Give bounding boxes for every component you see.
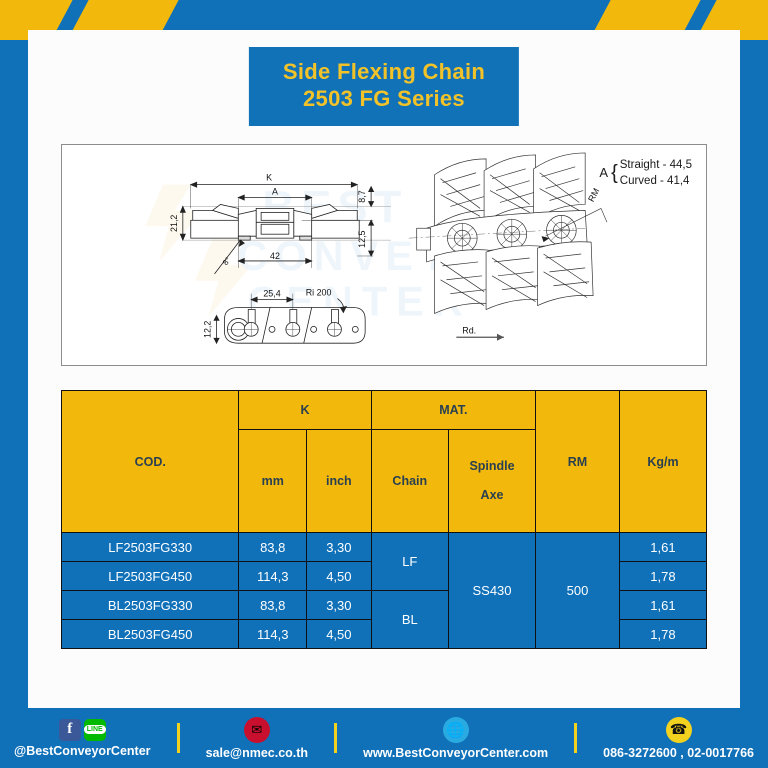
svg-text:21,2: 21,2: [169, 215, 179, 232]
footer-email[interactable]: ✉ sale@nmec.co.th: [206, 717, 309, 760]
footer-divider-2: [334, 723, 337, 753]
cell-rm: 500: [536, 533, 620, 649]
cell-mm: 83,8: [239, 591, 307, 620]
svg-text:12,2: 12,2: [203, 321, 213, 338]
header-rm: RM: [536, 391, 620, 533]
header-inch: inch: [307, 430, 372, 533]
cell-kgm: 1,78: [619, 562, 706, 591]
svg-text:Ri 200: Ri 200: [306, 288, 332, 298]
cell-kgm: 1,61: [619, 591, 706, 620]
footer-website[interactable]: 🌐 www.BestConveyorCenter.com: [363, 717, 548, 760]
cell-cod: LF2503FG450: [62, 562, 239, 591]
website-url: www.BestConveyorCenter.com: [363, 746, 548, 760]
email-address: sale@nmec.co.th: [206, 746, 309, 760]
cell-chain-lf: LF: [371, 533, 448, 591]
header-cod: COD.: [62, 391, 239, 533]
footer-divider-1: [177, 723, 180, 753]
facebook-icon[interactable]: f: [59, 719, 81, 741]
cell-kgm: 1,61: [619, 533, 706, 562]
svg-text:12,5: 12,5: [357, 230, 367, 247]
line-icon-label: LINE: [84, 725, 106, 734]
globe-icon[interactable]: 🌐: [443, 717, 469, 743]
footer-facebook[interactable]: f LINE @BestConveyorCenter: [14, 719, 151, 758]
svg-text:K: K: [266, 173, 272, 183]
cell-cod: BL2503FG450: [62, 620, 239, 649]
technical-drawing-panel: BEST CONVEYOR CENTER: [61, 144, 707, 366]
header-chain: Chain: [371, 430, 448, 533]
svg-text:A: A: [272, 187, 278, 197]
svg-text:8,7: 8,7: [357, 190, 367, 202]
footer-phone[interactable]: ☎ 086-3272600 , 02-0017766: [603, 717, 754, 760]
header-spindle-axe: Spindle Axe: [448, 430, 535, 533]
svg-text:25,4: 25,4: [263, 289, 280, 299]
footer-contact-bar: f LINE @BestConveyorCenter ✉ sale@nmec.c…: [0, 708, 768, 768]
specification-table-wrap: COD. K MAT. RM Kg/m mm inch Chain Spindl…: [61, 390, 707, 649]
cell-inch: 4,50: [307, 620, 372, 649]
header-kgm: Kg/m: [619, 391, 706, 533]
svg-text:Rd.: Rd.: [462, 325, 476, 335]
header-axe: Axe: [451, 481, 533, 510]
cell-mm: 114,3: [239, 620, 307, 649]
cell-spindle-axe: SS430: [448, 533, 535, 649]
svg-text:42: 42: [270, 251, 280, 261]
phone-number: 086-3272600 , 02-0017766: [603, 746, 754, 760]
footer-divider-3: [574, 723, 577, 753]
callout-straight: Straight - 44,5: [620, 157, 692, 173]
page-title: Side Flexing Chain 2503 FG Series: [249, 47, 519, 126]
page-sheet: Side Flexing Chain 2503 FG Series BEST C…: [28, 30, 740, 708]
callout-brace-icon: {: [611, 163, 618, 183]
footer-social-icons: f LINE: [59, 719, 106, 741]
header-spindle: Spindle: [451, 452, 533, 481]
title-line-2: 2503 FG Series: [283, 85, 485, 112]
header-k: K: [239, 391, 371, 430]
cell-mm: 83,8: [239, 533, 307, 562]
callout-curved: Curved - 41,4: [620, 173, 692, 189]
cell-chain-bl: BL: [371, 591, 448, 649]
title-line-1: Side Flexing Chain: [283, 58, 485, 85]
svg-text:8°: 8°: [221, 256, 233, 268]
callout-letter: A: [599, 164, 608, 182]
cell-inch: 3,30: [307, 533, 372, 562]
header-mat: MAT.: [371, 391, 535, 430]
line-icon[interactable]: LINE: [84, 719, 106, 741]
cell-inch: 3,30: [307, 591, 372, 620]
phone-icon[interactable]: ☎: [666, 717, 692, 743]
table-row[interactable]: LF2503FG330 83,8 3,30 LF SS430 500 1,61: [62, 533, 707, 562]
cell-inch: 4,50: [307, 562, 372, 591]
specification-table: COD. K MAT. RM Kg/m mm inch Chain Spindl…: [61, 390, 707, 649]
cell-mm: 114,3: [239, 562, 307, 591]
header-mm: mm: [239, 430, 307, 533]
cell-kgm: 1,78: [619, 620, 706, 649]
dimension-callout: A { Straight - 44,5 Curved - 41,4: [599, 157, 692, 190]
cell-cod: LF2503FG330: [62, 533, 239, 562]
email-icon[interactable]: ✉: [244, 717, 270, 743]
cell-cod: BL2503FG330: [62, 591, 239, 620]
table-header-row-1: COD. K MAT. RM Kg/m: [62, 391, 707, 430]
facebook-handle: @BestConveyorCenter: [14, 744, 151, 758]
